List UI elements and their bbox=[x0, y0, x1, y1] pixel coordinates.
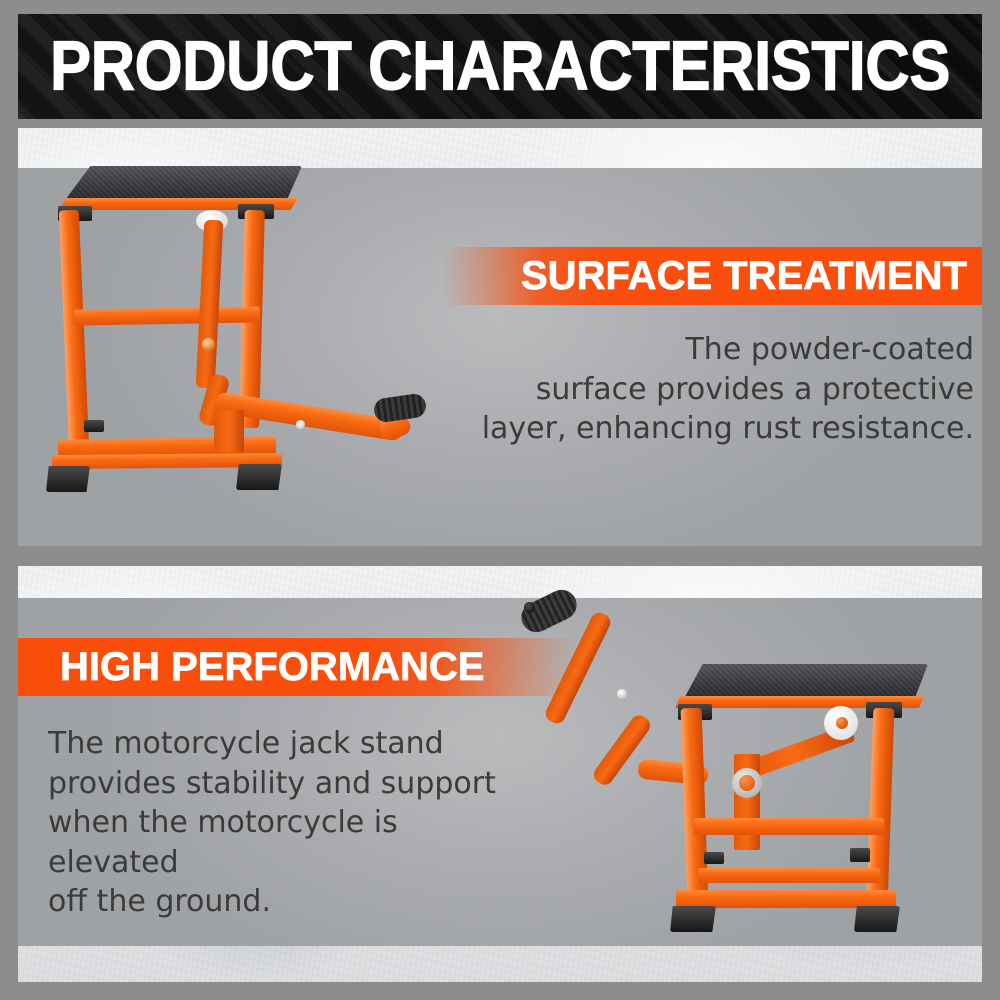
cross-brace-lower bbox=[698, 868, 880, 883]
body-line: provides stability and support bbox=[48, 764, 518, 804]
body-line: surface provides a protective bbox=[454, 370, 974, 410]
high-performance-heading-bar: HIGH PERFORMANCE bbox=[18, 638, 578, 696]
top-pad bbox=[666, 664, 928, 698]
stop-tab-left bbox=[704, 852, 724, 864]
surface-treatment-body: The powder-coated surface provides a pro… bbox=[454, 330, 974, 449]
lever-collar-bolt bbox=[296, 420, 305, 429]
surface-treatment-heading: SURFACE TREATMENT bbox=[521, 256, 967, 296]
section-high-performance: HIGH PERFORMANCE The motorcycle jack sta… bbox=[18, 566, 982, 982]
foot-right bbox=[854, 906, 900, 932]
body-line: layer, enhancing rust resistance. bbox=[454, 409, 974, 449]
infographic-page: PRODUCT CHARACTERISTICS bbox=[0, 0, 1000, 1000]
high-performance-heading: HIGH PERFORMANCE bbox=[60, 647, 484, 687]
foot-right bbox=[236, 464, 282, 490]
hinge-bolt bbox=[739, 775, 755, 791]
leg-front-left bbox=[59, 210, 89, 451]
body-line: The motorcycle jack stand bbox=[48, 724, 518, 764]
pivot-bolt bbox=[202, 338, 215, 351]
grip-end-cap bbox=[524, 602, 535, 613]
hinge-block bbox=[214, 410, 244, 452]
foot-left bbox=[670, 906, 716, 932]
motorcycle-jack-stand-lowered-image bbox=[28, 158, 428, 518]
top-pad bbox=[50, 166, 302, 200]
cross-brace-upper bbox=[694, 818, 884, 835]
base-rail bbox=[676, 890, 896, 908]
body-line: The powder-coated bbox=[454, 330, 974, 370]
roller-hub bbox=[836, 717, 848, 729]
page-title: PRODUCT CHARACTERISTICS bbox=[50, 30, 950, 100]
lift-arm bbox=[196, 220, 224, 389]
high-performance-body: The motorcycle jack stand provides stabi… bbox=[48, 724, 518, 922]
stop-tab-right bbox=[850, 848, 870, 862]
body-line: when the motorcycle is elevated bbox=[48, 803, 518, 882]
section-surface-treatment: SURFACE TREATMENT The powder-coated surf… bbox=[18, 128, 982, 546]
lever-collar-bolt bbox=[617, 689, 627, 699]
body-line: off the ground. bbox=[48, 882, 518, 922]
surface-treatment-heading-bar: SURFACE TREATMENT bbox=[443, 247, 982, 305]
foot-left bbox=[46, 466, 90, 492]
rear-stop-tab bbox=[84, 420, 104, 432]
header-banner: PRODUCT CHARACTERISTICS bbox=[18, 14, 982, 119]
cross-brace-mid bbox=[74, 306, 260, 325]
lever-grip bbox=[373, 392, 428, 423]
